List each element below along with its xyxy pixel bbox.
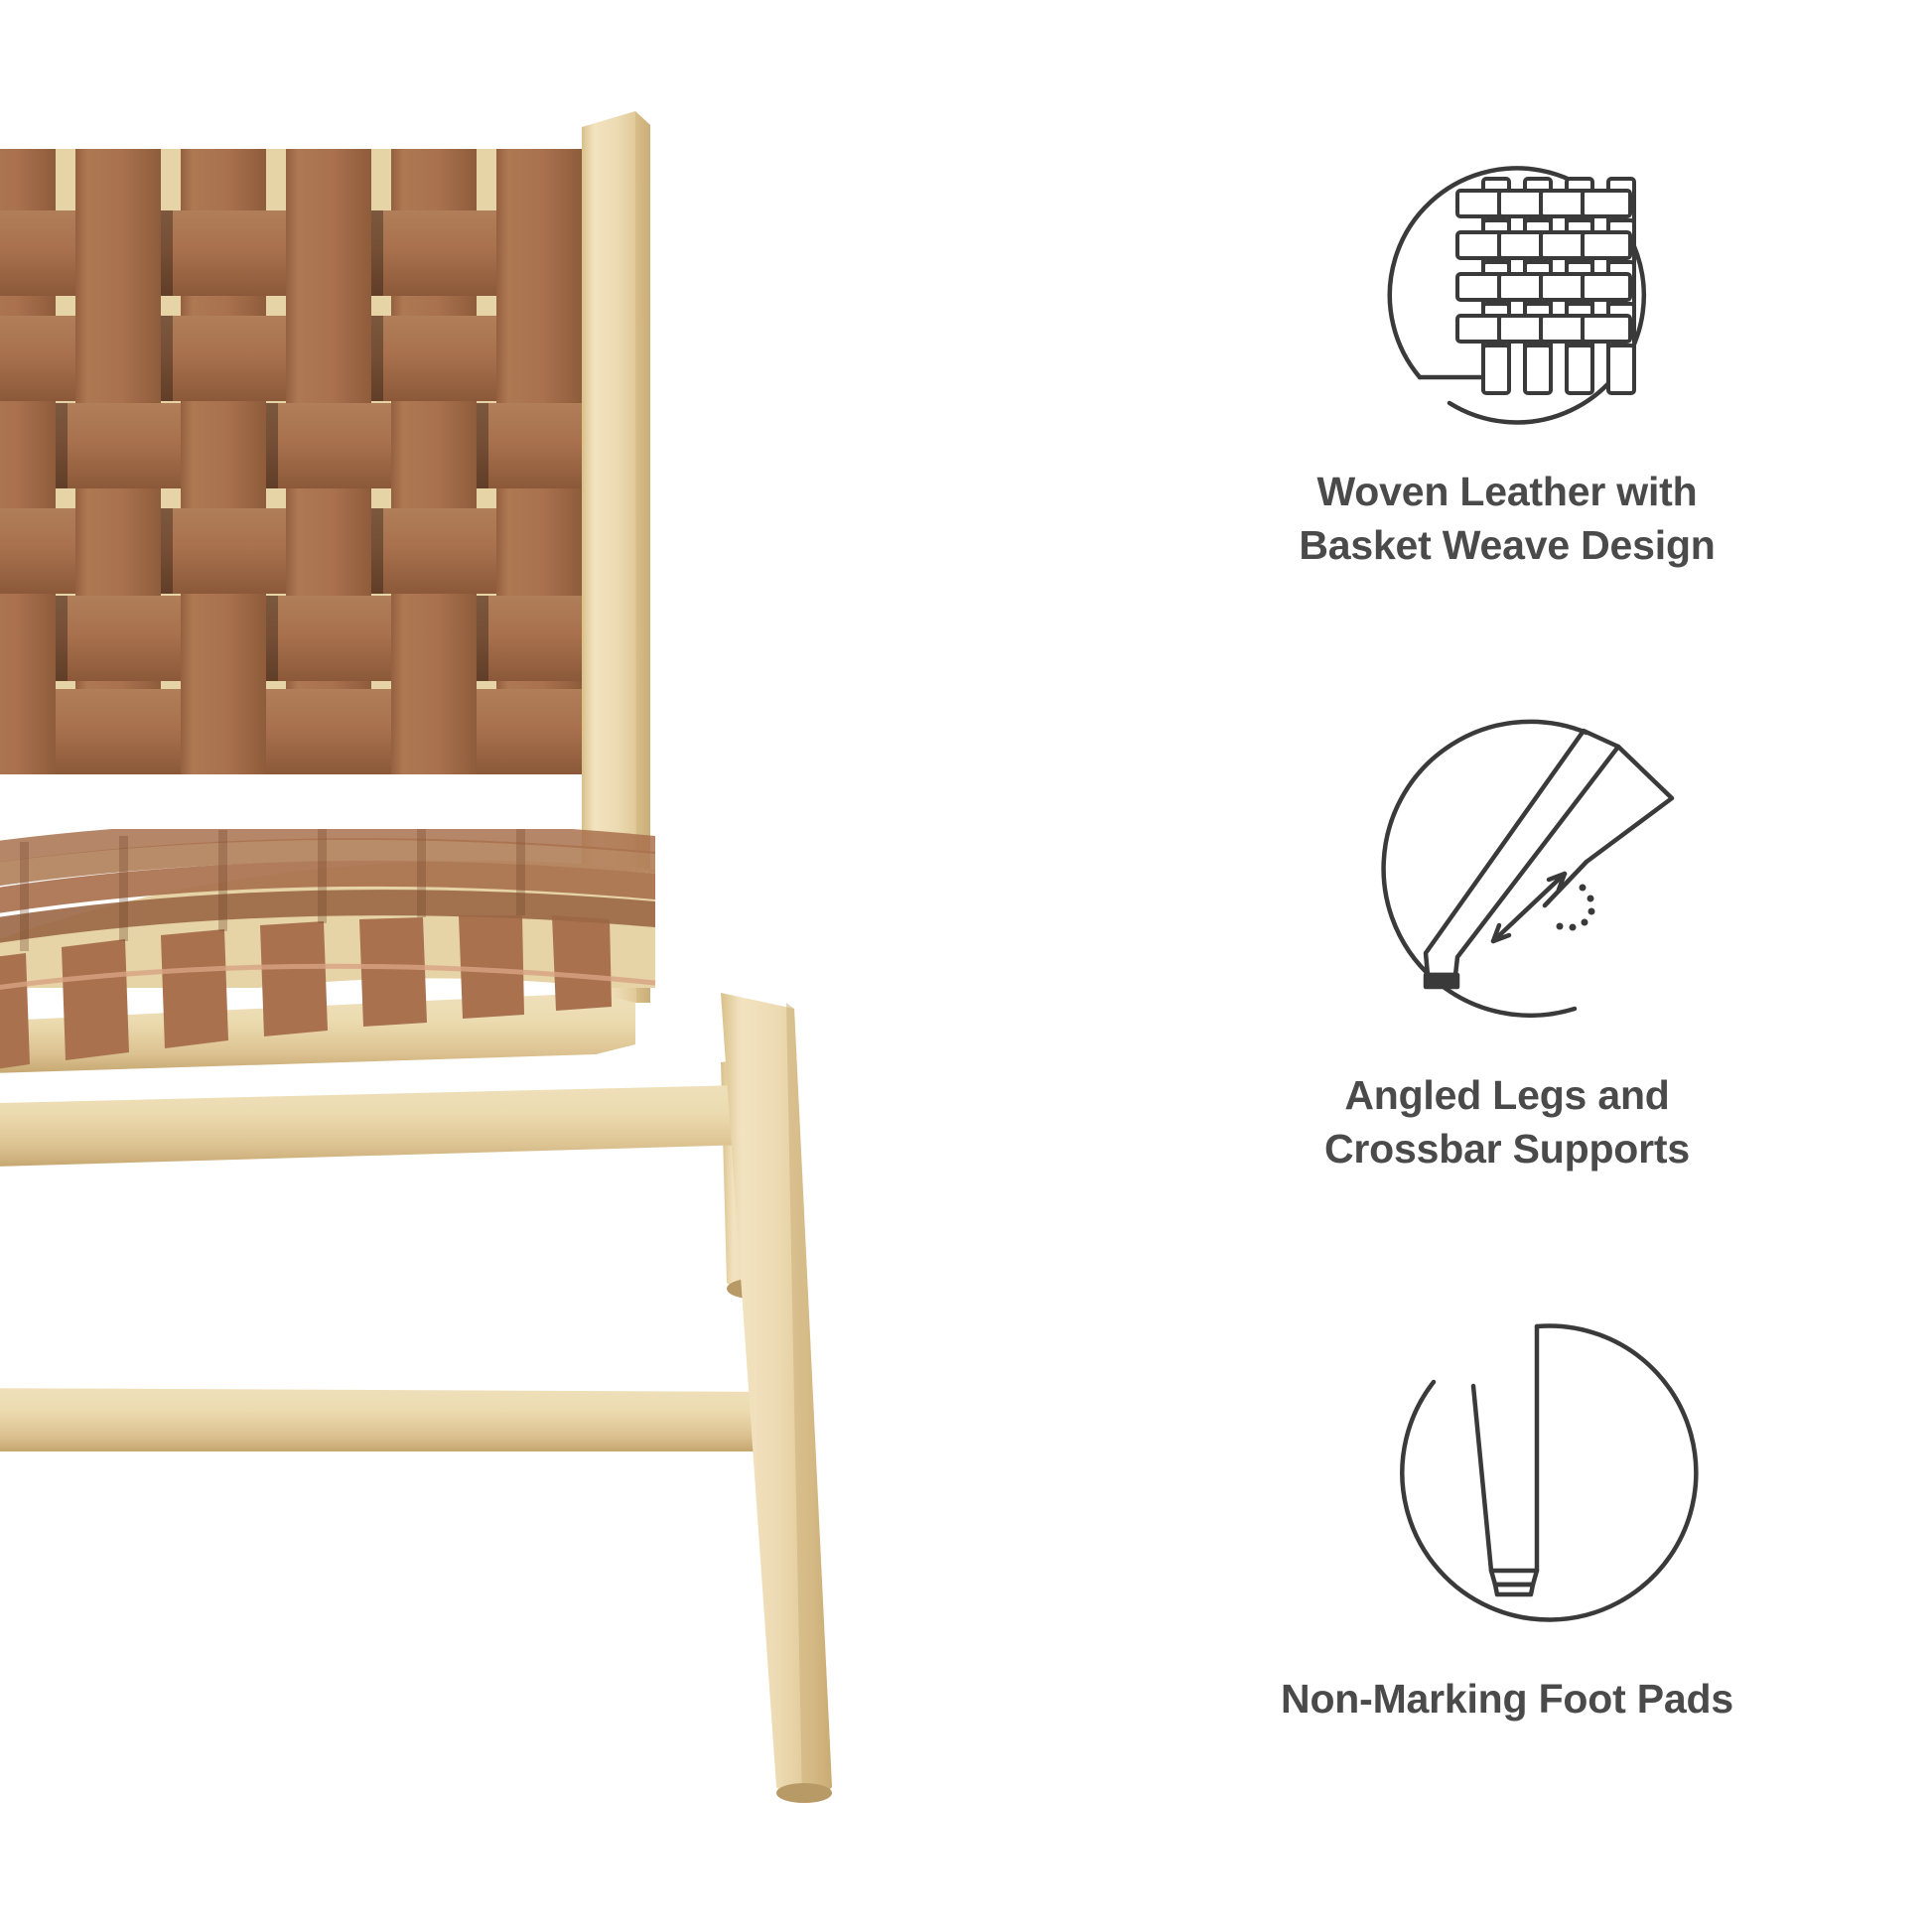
feature-1-caption-line-2: Basket Weave Design <box>1299 518 1715 572</box>
feature-3-caption: Non-Marking Foot Pads <box>1281 1672 1733 1725</box>
backrest-panel <box>0 149 641 784</box>
upper-crossbar <box>0 1084 784 1168</box>
feature-2-caption: Angled Legs and Crossbar Supports <box>1324 1068 1690 1175</box>
product-photo <box>0 0 1092 1932</box>
seat-assembly <box>0 820 655 1074</box>
foot-pad <box>776 1783 832 1803</box>
feature-1-caption: Woven Leather with Basket Weave Design <box>1299 465 1715 572</box>
feature-2-caption-line-2: Crossbar Supports <box>1324 1122 1690 1175</box>
feature-foot-pads: Non-Marking Foot Pads <box>1082 1287 1932 1725</box>
angled-leg-icon <box>1289 681 1725 1058</box>
product-feature-image: Woven Leather with Basket Weave Design <box>0 0 1932 1932</box>
tapered-leg-foot-pad-icon <box>1289 1287 1725 1664</box>
chair-illustration <box>0 0 1092 1932</box>
feature-3-caption-line-1: Non-Marking Foot Pads <box>1281 1672 1733 1725</box>
feature-list: Woven Leather with Basket Weave Design <box>1082 0 1932 1932</box>
feature-angled-legs: Angled Legs and Crossbar Supports <box>1082 681 1932 1175</box>
feature-1-caption-line-1: Woven Leather with <box>1299 465 1715 518</box>
feature-2-caption-line-1: Angled Legs and <box>1324 1068 1690 1122</box>
basket-weave-icon <box>1289 79 1725 457</box>
feature-woven-leather: Woven Leather with Basket Weave Design <box>1082 79 1932 572</box>
lower-crossbar <box>0 1388 784 1451</box>
